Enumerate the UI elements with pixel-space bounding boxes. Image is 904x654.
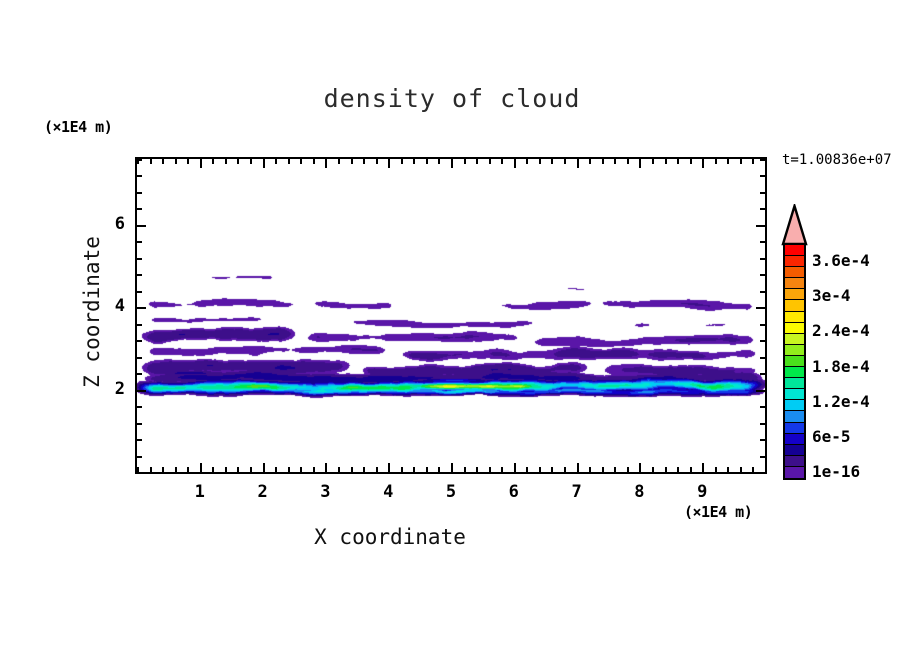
x-tick-label: 6 xyxy=(494,482,534,502)
x-axis-unit-label: (×1E4 m) xyxy=(684,503,752,521)
x-tick xyxy=(614,467,616,472)
x-tick xyxy=(451,463,453,472)
x-tick-top xyxy=(526,159,528,164)
x-tick-top xyxy=(765,159,767,164)
colorbar-band xyxy=(785,278,804,289)
x-tick xyxy=(489,467,491,472)
x-tick-top xyxy=(225,159,227,164)
colorbar-tick-label: 1.2e-4 xyxy=(812,392,870,411)
time-annotation: t=1.00836e+07 xyxy=(782,152,892,168)
x-tick xyxy=(351,467,353,472)
page-title: density of cloud xyxy=(0,84,904,113)
z-axis-unit-label: (×1E4 m) xyxy=(44,118,112,136)
x-tick xyxy=(200,463,202,472)
colorbar-tick-label: 3e-4 xyxy=(812,286,851,305)
x-tick xyxy=(677,467,679,472)
x-tick-top xyxy=(602,159,604,164)
x-tick xyxy=(162,467,164,472)
x-tick-top xyxy=(589,159,591,164)
x-tick xyxy=(702,463,704,472)
x-tick-top xyxy=(514,159,516,168)
x-tick-top xyxy=(727,159,729,164)
y-tick xyxy=(137,208,142,210)
x-tick xyxy=(589,467,591,472)
y-axis-title: Z coordinate xyxy=(80,202,104,422)
x-tick-label: 7 xyxy=(557,482,597,502)
x-tick-top xyxy=(313,159,315,164)
x-tick xyxy=(715,467,717,472)
colorbar-band xyxy=(785,467,804,478)
x-tick-top xyxy=(187,159,189,164)
x-tick-top xyxy=(489,159,491,164)
y-tick xyxy=(137,307,146,309)
x-tick xyxy=(300,467,302,472)
y-tick-right xyxy=(760,406,765,408)
x-tick-top xyxy=(577,159,579,168)
x-tick xyxy=(752,467,754,472)
y-tick xyxy=(137,324,142,326)
x-tick-top xyxy=(614,159,616,164)
x-tick xyxy=(401,467,403,472)
x-tick xyxy=(639,463,641,472)
x-tick-top xyxy=(376,159,378,164)
x-tick-label: 5 xyxy=(431,482,471,502)
x-tick-top xyxy=(677,159,679,164)
x-tick-top xyxy=(627,159,629,164)
x-tick xyxy=(577,463,579,472)
y-tick-right xyxy=(760,192,765,194)
y-tick-right xyxy=(760,208,765,210)
colorbar-band xyxy=(785,423,804,434)
x-tick xyxy=(237,467,239,472)
y-tick xyxy=(137,390,146,392)
x-tick-label: 8 xyxy=(619,482,659,502)
x-tick xyxy=(690,467,692,472)
x-tick xyxy=(388,463,390,472)
x-tick xyxy=(464,467,466,472)
x-axis-title: X coordinate xyxy=(0,525,780,549)
x-tick-top xyxy=(715,159,717,164)
colorbar-tick-label: 2.4e-4 xyxy=(812,321,870,340)
colorbar-band xyxy=(785,289,804,300)
y-tick xyxy=(137,340,142,342)
y-tick xyxy=(137,291,142,293)
x-tick-top xyxy=(162,159,164,164)
colorbar-band xyxy=(785,356,804,367)
x-tick xyxy=(602,467,604,472)
colorbar-tick-label: 3.6e-4 xyxy=(812,251,870,270)
x-tick-top xyxy=(200,159,202,168)
x-tick-label: 4 xyxy=(368,482,408,502)
x-tick xyxy=(150,467,152,472)
x-tick xyxy=(250,467,252,472)
x-tick xyxy=(627,467,629,472)
x-tick-top xyxy=(652,159,654,164)
x-tick xyxy=(476,467,478,472)
x-tick xyxy=(263,463,265,472)
x-tick xyxy=(225,467,227,472)
y-tick-right xyxy=(760,324,765,326)
colorbar-overflow-cap xyxy=(781,204,808,246)
y-tick-right xyxy=(760,340,765,342)
x-tick-top xyxy=(388,159,390,168)
x-tick-top xyxy=(752,159,754,164)
x-tick-top xyxy=(237,159,239,164)
x-tick-top xyxy=(665,159,667,164)
x-tick xyxy=(665,467,667,472)
y-tick-right xyxy=(760,291,765,293)
colorbar-band xyxy=(785,334,804,345)
x-tick-top xyxy=(325,159,327,168)
x-tick xyxy=(426,467,428,472)
x-tick-label: 1 xyxy=(180,482,220,502)
y-tick xyxy=(137,159,142,161)
x-tick xyxy=(313,467,315,472)
y-tick-right xyxy=(760,439,765,441)
y-tick xyxy=(137,192,142,194)
x-tick xyxy=(551,467,553,472)
y-tick-right xyxy=(760,159,765,161)
y-tick xyxy=(137,175,142,177)
y-tick xyxy=(137,258,142,260)
x-tick-top xyxy=(263,159,265,168)
y-tick-right xyxy=(760,423,765,425)
x-tick xyxy=(526,467,528,472)
x-tick xyxy=(288,467,290,472)
y-tick xyxy=(137,241,142,243)
y-tick-right xyxy=(756,307,765,309)
colorbar-tick-label: 1e-16 xyxy=(812,462,860,481)
colorbar-band xyxy=(785,456,804,467)
x-tick-top xyxy=(451,159,453,168)
x-tick-top xyxy=(564,159,566,164)
y-tick-right xyxy=(760,175,765,177)
x-tick xyxy=(564,467,566,472)
x-tick-top xyxy=(363,159,365,164)
x-tick-top xyxy=(401,159,403,164)
x-tick-top xyxy=(702,159,704,168)
x-tick-top xyxy=(275,159,277,164)
colorbar-band xyxy=(785,378,804,389)
x-tick xyxy=(212,467,214,472)
y-tick xyxy=(137,274,142,276)
y-tick-right xyxy=(760,373,765,375)
x-tick-label: 3 xyxy=(305,482,345,502)
x-tick xyxy=(514,463,516,472)
x-tick xyxy=(413,467,415,472)
colorbar-band xyxy=(785,245,804,256)
colorbar-band xyxy=(785,434,804,445)
plot-area[interactable] xyxy=(135,157,767,474)
y-tick xyxy=(137,225,146,227)
colorbar-band xyxy=(785,256,804,267)
colorbar-band xyxy=(785,411,804,422)
x-tick-top xyxy=(338,159,340,164)
colorbar-band xyxy=(785,389,804,400)
y-tick xyxy=(137,439,142,441)
x-tick xyxy=(338,467,340,472)
y-tick xyxy=(137,472,142,474)
x-tick xyxy=(187,467,189,472)
x-tick xyxy=(376,467,378,472)
colorbar-band xyxy=(785,300,804,311)
x-tick-top xyxy=(551,159,553,164)
colorbar-band xyxy=(785,312,804,323)
colorbar-band xyxy=(785,267,804,278)
x-tick-top xyxy=(351,159,353,164)
y-tick-right xyxy=(760,274,765,276)
x-tick-top xyxy=(464,159,466,164)
y-tick-right xyxy=(760,456,765,458)
x-tick-top xyxy=(300,159,302,164)
x-tick-top xyxy=(438,159,440,164)
x-tick-label: 9 xyxy=(682,482,722,502)
colorbar[interactable] xyxy=(783,243,806,480)
x-tick-top xyxy=(413,159,415,164)
colorbar-tick-label: 1.8e-4 xyxy=(812,357,870,376)
x-tick-top xyxy=(539,159,541,164)
x-tick-top xyxy=(501,159,503,164)
y-tick-right xyxy=(756,390,765,392)
x-tick xyxy=(652,467,654,472)
x-tick xyxy=(175,467,177,472)
x-tick xyxy=(765,467,767,472)
x-tick xyxy=(438,467,440,472)
y-tick xyxy=(137,373,142,375)
colorbar-band xyxy=(785,367,804,378)
x-tick xyxy=(539,467,541,472)
colorbar-band xyxy=(785,323,804,334)
x-tick xyxy=(325,463,327,472)
x-tick-label: 2 xyxy=(243,482,283,502)
y-tick-right xyxy=(760,357,765,359)
x-tick-top xyxy=(426,159,428,164)
x-tick-top xyxy=(150,159,152,164)
x-tick-top xyxy=(690,159,692,164)
y-tick xyxy=(137,423,142,425)
y-tick xyxy=(137,456,142,458)
x-tick-top xyxy=(175,159,177,164)
colorbar-band xyxy=(785,445,804,456)
colorbar-band xyxy=(785,345,804,356)
x-tick-top xyxy=(639,159,641,168)
x-tick-top xyxy=(288,159,290,164)
y-tick-right xyxy=(760,472,765,474)
x-tick xyxy=(363,467,365,472)
x-tick-top xyxy=(476,159,478,164)
contour-plot-canvas xyxy=(137,159,765,472)
y-tick xyxy=(137,406,142,408)
x-tick-top xyxy=(250,159,252,164)
x-tick xyxy=(501,467,503,472)
colorbar-band xyxy=(785,400,804,411)
x-tick xyxy=(275,467,277,472)
x-tick xyxy=(727,467,729,472)
colorbar-tick-label: 6e-5 xyxy=(812,427,851,446)
y-tick xyxy=(137,357,142,359)
y-tick-right xyxy=(756,225,765,227)
y-tick-right xyxy=(760,241,765,243)
contour-clip xyxy=(137,159,765,472)
x-tick-top xyxy=(212,159,214,164)
y-tick-right xyxy=(760,258,765,260)
x-tick xyxy=(740,467,742,472)
x-tick-top xyxy=(740,159,742,164)
